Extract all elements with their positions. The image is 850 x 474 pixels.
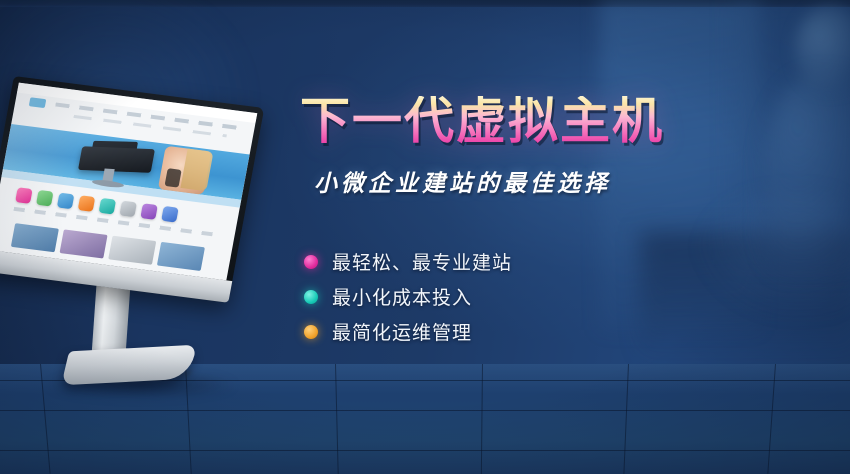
vignette-overlay [0,0,850,474]
promo-banner: 下一代虚拟主机 小微企业建站的最佳选择 最轻松、最专业建站 最小化成本投入 最简… [0,0,850,474]
